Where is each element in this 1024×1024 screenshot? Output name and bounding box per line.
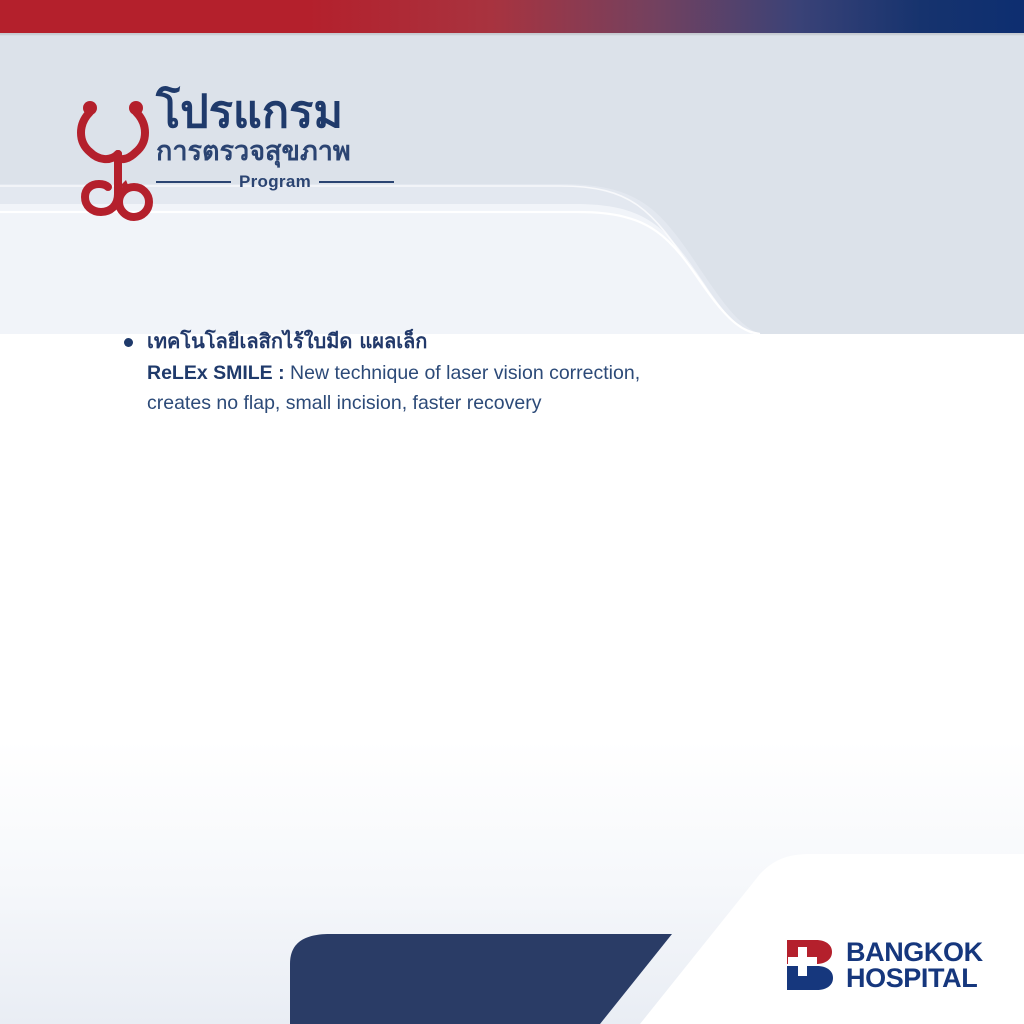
brand-line-2: HOSPITAL [846, 965, 983, 991]
program-logo-thai-subtitle: การตรวจสุขภาพ [156, 137, 416, 167]
rule-right [319, 181, 394, 183]
list-item-english-bold: ReLEx SMILE : [147, 362, 285, 384]
stethoscope-icon [68, 90, 168, 230]
program-logo-program-label: Program [239, 172, 311, 192]
top-bar-shadow [0, 33, 1024, 36]
bangkok-hospital-mark-icon [783, 938, 835, 992]
list-item-body: เทคโนโลยีเลสิกไร้ใบมีด แผลเล็ก ReLEx SMI… [147, 326, 824, 418]
bangkok-hospital-wordmark: BANGKOK HOSPITAL [846, 939, 983, 991]
rule-left [156, 181, 231, 183]
content-body: เทคโนโลยีเลสิกไร้ใบมีด แผลเล็ก ReLEx SMI… [124, 326, 824, 418]
list-item-english-line2: creates no flap, small incision, faster … [147, 392, 542, 414]
bangkok-hospital-logo: BANGKOK HOSPITAL [783, 938, 983, 992]
program-logo: โปรแกรม การตรวจสุขภาพ Program [68, 88, 408, 233]
slide-canvas: โปรแกรม การตรวจสุขภาพ Program เทคโนโลยีเ… [0, 0, 1024, 1024]
program-logo-program-row: Program [156, 172, 394, 192]
program-logo-text: โปรแกรม การตรวจสุขภาพ Program [156, 88, 416, 192]
list-item: เทคโนโลยีเลสิกไร้ใบมีด แผลเล็ก ReLEx SMI… [124, 326, 824, 418]
list-item-thai-heading: เทคโนโลยีเลสิกไร้ใบมีด แผลเล็ก [147, 326, 824, 356]
list-item-english-line1: New technique of laser vision correction… [285, 362, 641, 384]
brand-line-1: BANGKOK [846, 939, 983, 965]
bullet-dot-icon [124, 338, 133, 347]
list-item-english-text: ReLEx SMILE : New technique of laser vis… [147, 358, 824, 418]
program-logo-thai-title: โปรแกรม [156, 88, 416, 135]
top-gradient-bar [0, 0, 1024, 33]
